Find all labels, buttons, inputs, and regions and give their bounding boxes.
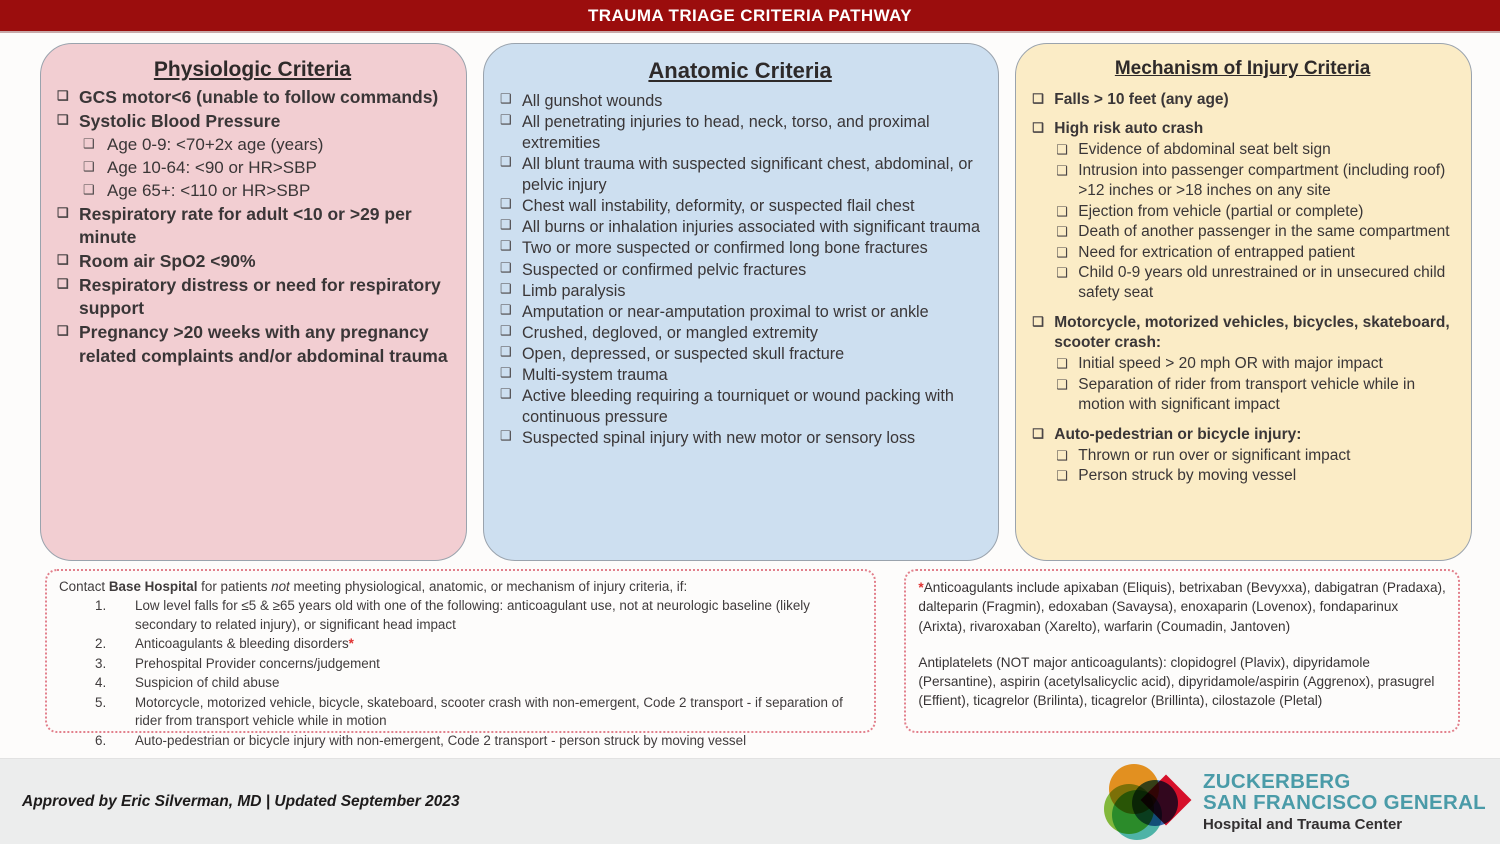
checkbox-icon: ❑ [500,281,512,298]
criteria-item-label: Active bleeding requiring a tourniquet o… [522,386,982,428]
checkbox-icon: ❑ [1032,314,1044,331]
header-bar: TRAUMA TRIAGE CRITERIA PATHWAY [0,0,1500,33]
criteria-item-label: Age 10-64: <90 or HR>SBP [107,157,450,180]
criteria-item: ❑Crushed, degloved, or mangled extremity [498,323,982,344]
criteria-item: ❑All gunshot wounds [498,91,982,112]
checkbox-icon: ❑ [500,302,512,319]
page-title: TRAUMA TRIAGE CRITERIA PATHWAY [588,6,912,26]
checkbox-icon: ❑ [1056,223,1068,240]
base-hospital-list-item: Low level falls for ≤5 & ≥65 years old w… [59,597,862,634]
criteria-item-label: Open, depressed, or suspected skull frac… [522,344,982,365]
checkbox-icon: ❑ [83,158,95,176]
criteria-item-label: Age 65+: <110 or HR>SBP [107,180,450,203]
checkbox-icon: ❑ [1056,355,1068,372]
footer-bar: Approved by Eric Silverman, MD | Updated… [0,758,1500,844]
checkbox-icon: ❑ [500,196,512,213]
criteria-item: ❑Respiratory rate for adult <10 or >29 p… [55,203,450,249]
criteria-item: ❑Open, depressed, or suspected skull fra… [498,344,982,365]
criteria-item-label: Room air SpO2 <90% [79,250,450,273]
antiplatelets-paragraph: Antiplatelets (NOT major anticoagulants)… [918,653,1446,711]
base-hospital-list-item: Motorcycle, motorized vehicle, bicycle, … [59,694,862,731]
criteria-list-physiologic: ❑GCS motor<6 (unable to follow commands)… [55,86,450,368]
checkbox-icon: ❑ [1032,91,1044,108]
criteria-item-label: Systolic Blood Pressure [79,110,450,133]
checkbox-icon: ❑ [500,365,512,382]
criteria-item-label: All penetrating injuries to head, neck, … [522,112,982,154]
checkbox-icon: ❑ [500,323,512,340]
checkbox-icon: ❑ [57,87,69,104]
criteria-item-label: Age 0-9: <70+2x age (years) [107,134,450,157]
anticoagulants-paragraph: *Anticoagulants include apixaban (Eliqui… [918,578,1446,636]
checkbox-icon: ❑ [57,111,69,128]
criteria-item-label: Pregnancy >20 weeks with any pregnancy r… [79,321,450,367]
checkbox-icon: ❑ [1056,264,1068,281]
base-hospital-lead-text: Contact Base Hospital for patients not m… [59,578,862,596]
criteria-item: ❑Ejection from vehicle (partial or compl… [1030,202,1455,222]
criteria-list-anatomic: ❑All gunshot wounds❑All penetrating inju… [498,91,982,449]
criteria-item: ❑Respiratory distress or need for respir… [55,274,450,320]
criteria-item: ❑Age 0-9: <70+2x age (years) [55,134,450,157]
criteria-item-label: Suspected spinal injury with new motor o… [522,428,982,449]
criteria-item: ❑Falls > 10 feet (any age) [1030,90,1455,110]
criteria-item: ❑All burns or inhalation injuries associ… [498,217,982,238]
criteria-item: ❑Active bleeding requiring a tourniquet … [498,386,982,428]
criteria-item: ❑Amputation or near-amputation proximal … [498,302,982,323]
criteria-item: ❑Intrusion into passenger compartment (i… [1030,161,1455,202]
criteria-item-label: Death of another passenger in the same c… [1078,222,1455,242]
notes-row: Contact Base Hospital for patients not m… [0,561,1500,733]
checkbox-icon: ❑ [1056,447,1068,464]
checkbox-icon: ❑ [57,275,69,292]
criteria-list-mechanism: ❑Falls > 10 feet (any age)❑High risk aut… [1030,90,1455,487]
criteria-item: ❑All penetrating injuries to head, neck,… [498,112,982,154]
criteria-item-label: Initial speed > 20 mph OR with major imp… [1078,354,1455,374]
criteria-item: ❑Room air SpO2 <90% [55,250,450,273]
criteria-item-label: Suspected or confirmed pelvic fractures [522,260,982,281]
criteria-item-label: Separation of rider from transport vehic… [1078,375,1455,416]
anticoagulants-text: Anticoagulants include apixaban (Eliquis… [918,580,1445,634]
criteria-item: ❑Suspected spinal injury with new motor … [498,428,982,449]
criteria-item-label: Motorcycle, motorized vehicles, bicycles… [1054,313,1455,353]
criteria-item-label: Crushed, degloved, or mangled extremity [522,323,982,344]
criteria-item-label: All burns or inhalation injuries associa… [522,217,982,238]
checkbox-icon: ❑ [500,386,512,403]
logo-line-2: SAN FRANCISCO GENERAL [1203,792,1486,813]
criteria-item: ❑Age 10-64: <90 or HR>SBP [55,157,450,180]
checkbox-icon: ❑ [500,260,512,277]
zsfg-logo-mark-icon [1104,764,1190,840]
criteria-item-label: Limb paralysis [522,281,982,302]
criteria-item: ❑Chest wall instability, deformity, or s… [498,196,982,217]
criteria-item-label: Thrown or run over or significant impact [1078,446,1455,466]
approval-text: Approved by Eric Silverman, MD | Updated… [22,793,460,811]
criteria-item: ❑High risk auto crash [1030,119,1455,139]
checkbox-icon: ❑ [500,154,512,171]
criteria-item: ❑Thrown or run over or significant impac… [1030,446,1455,466]
base-hospital-emphasis: Base Hospital [109,579,198,594]
criteria-item-label: All gunshot wounds [522,91,982,112]
checkbox-icon: ❑ [1056,141,1068,158]
criteria-card-physiologic: Physiologic Criteria ❑GCS motor<6 (unabl… [40,43,467,561]
logo-line-3: Hospital and Trauma Center [1203,817,1486,833]
criteria-item: ❑Separation of rider from transport vehi… [1030,375,1455,416]
criteria-item: ❑Auto-pedestrian or bicycle injury: [1030,425,1455,445]
checkbox-icon: ❑ [500,91,512,108]
criteria-item: ❑Limb paralysis [498,281,982,302]
criteria-item: ❑Pregnancy >20 weeks with any pregnancy … [55,321,450,367]
checkbox-icon: ❑ [500,112,512,129]
checkbox-icon: ❑ [1056,467,1068,484]
criteria-item: ❑Suspected or confirmed pelvic fractures [498,260,982,281]
criteria-item: ❑Two or more suspected or confirmed long… [498,238,982,259]
checkbox-icon: ❑ [57,204,69,221]
checkbox-icon: ❑ [1056,376,1068,393]
criteria-item: ❑Death of another passenger in the same … [1030,222,1455,242]
red-asterisk-icon: * [349,636,354,651]
checkbox-icon: ❑ [1056,162,1068,179]
criteria-item-label: Child 0-9 years old unrestrained or in u… [1078,263,1455,304]
criteria-item-label: Respiratory rate for adult <10 or >29 pe… [79,203,450,249]
not-emphasis: not [271,579,290,594]
criteria-card-mechanism: Mechanism of Injury Criteria ❑Falls > 10… [1015,43,1472,561]
base-hospital-list-item: Suspicion of child abuse [59,674,862,693]
criteria-item-label: Two or more suspected or confirmed long … [522,238,982,259]
criteria-item-label: Falls > 10 feet (any age) [1054,90,1455,110]
checkbox-icon: ❑ [83,135,95,153]
criteria-item: ❑Systolic Blood Pressure [55,110,450,133]
criteria-item-label: Auto-pedestrian or bicycle injury: [1054,425,1455,445]
checkbox-icon: ❑ [500,428,512,445]
criteria-item: ❑Person struck by moving vessel [1030,466,1455,486]
criteria-item-label: Ejection from vehicle (partial or comple… [1078,202,1455,222]
base-hospital-criteria-list: Low level falls for ≤5 & ≥65 years old w… [59,597,862,750]
criteria-item: ❑Motorcycle, motorized vehicles, bicycle… [1030,313,1455,353]
checkbox-icon: ❑ [83,181,95,199]
base-hospital-note-box: Contact Base Hospital for patients not m… [45,569,876,733]
criteria-item-label: GCS motor<6 (unable to follow commands) [79,86,450,109]
criteria-item: ❑All blunt trauma with suspected signifi… [498,154,982,196]
trauma-triage-pathway-page: TRAUMA TRIAGE CRITERIA PATHWAY Physiolog… [0,0,1500,844]
criteria-item-label: High risk auto crash [1054,119,1455,139]
medication-note-box: *Anticoagulants include apixaban (Eliqui… [904,569,1460,733]
checkbox-icon: ❑ [57,251,69,268]
criteria-columns: Physiologic Criteria ❑GCS motor<6 (unabl… [0,33,1500,561]
criteria-item-label: Chest wall instability, deformity, or su… [522,196,982,217]
logo-line-1: ZUCKERBERG [1203,771,1486,792]
zsfg-logo: ZUCKERBERG SAN FRANCISCO GENERAL Hospita… [1104,764,1486,840]
card-title-physiologic: Physiologic Criteria [55,58,450,82]
criteria-item: ❑Age 65+: <110 or HR>SBP [55,180,450,203]
card-title-anatomic: Anatomic Criteria [498,58,982,84]
criteria-item-label: Amputation or near-amputation proximal t… [522,302,982,323]
criteria-item: ❑GCS motor<6 (unable to follow commands) [55,86,450,109]
criteria-item-label: Intrusion into passenger compartment (in… [1078,161,1455,202]
criteria-item: ❑Need for extrication of entrapped patie… [1030,243,1455,263]
criteria-item-label: Person struck by moving vessel [1078,466,1455,486]
criteria-item-label: Multi-system trauma [522,365,982,386]
criteria-item: ❑Multi-system trauma [498,365,982,386]
checkbox-icon: ❑ [1056,203,1068,220]
checkbox-icon: ❑ [500,344,512,361]
criteria-item-label: Need for extrication of entrapped patien… [1078,243,1455,263]
criteria-item: ❑Evidence of abdominal seat belt sign [1030,140,1455,160]
criteria-item-label: Evidence of abdominal seat belt sign [1078,140,1455,160]
checkbox-icon: ❑ [1032,120,1044,137]
checkbox-icon: ❑ [57,322,69,339]
checkbox-icon: ❑ [1032,426,1044,443]
criteria-item: ❑Child 0-9 years old unrestrained or in … [1030,263,1455,304]
criteria-card-anatomic: Anatomic Criteria ❑All gunshot wounds❑Al… [483,43,999,561]
criteria-item: ❑Initial speed > 20 mph OR with major im… [1030,354,1455,374]
base-hospital-list-item: Prehospital Provider concerns/judgement [59,655,862,674]
card-title-mechanism: Mechanism of Injury Criteria [1030,58,1455,80]
checkbox-icon: ❑ [500,238,512,255]
criteria-item-label: Respiratory distress or need for respira… [79,274,450,320]
zsfg-logo-text: ZUCKERBERG SAN FRANCISCO GENERAL Hospita… [1203,771,1486,832]
checkbox-icon: ❑ [1056,244,1068,261]
criteria-item-label: All blunt trauma with suspected signific… [522,154,982,196]
base-hospital-list-item: Anticoagulants & bleeding disorders* [59,635,862,654]
checkbox-icon: ❑ [500,217,512,234]
base-hospital-list-item: Auto-pedestrian or bicycle injury with n… [59,732,862,751]
